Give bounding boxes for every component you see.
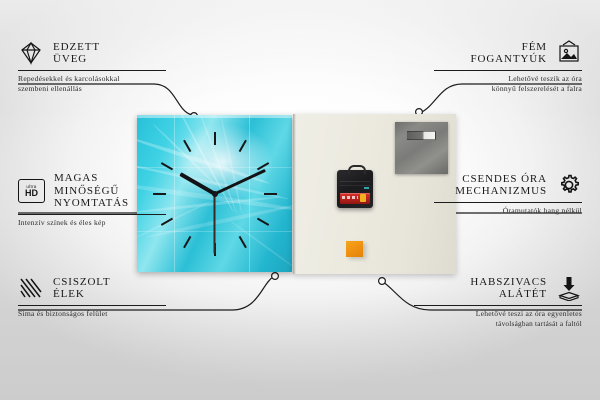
foam-pad-down-arrow-icon <box>556 275 582 301</box>
feature-metal-handles[interactable]: FÉM FOGANTYÚK Lehetővé teszik az óra kön… <box>434 40 582 94</box>
feature-desc-line1: Intenzív színek és éles kép <box>18 218 166 228</box>
feature-title-line2: NYOMTATÁS <box>54 197 166 210</box>
feature-desc-line1: Sima és biztonságos felület <box>18 309 166 319</box>
feature-title-line1: MAGAS MINŐSÉGŰ <box>54 172 166 197</box>
feature-desc-line1: Lehetővé teszik az óra <box>434 74 582 84</box>
aa-battery <box>340 193 370 204</box>
feature-title-line2: ÉLEK <box>53 288 111 301</box>
mechanism-hook <box>348 165 366 174</box>
feature-desc-line2: szembeni ellenállás <box>18 84 166 94</box>
feature-desc-line1: Óramutatók hang nélkül <box>434 206 582 216</box>
feature-foam-pad[interactable]: HABSZIVACS ALÁTÉT Lehetővé teszi az óra … <box>414 275 582 329</box>
feature-silent-mechanism[interactable]: CSENDES ÓRA MECHANIZMUS Óramutatók hang … <box>434 172 582 216</box>
clock-center-cap <box>212 191 218 197</box>
product-photo <box>137 115 457 278</box>
feature-title-line2: ÜVEG <box>53 53 100 66</box>
feature-title-line1: CSISZOLT <box>53 276 111 289</box>
feature-desc-line2: távolságban tartását a faltól <box>414 319 582 329</box>
divider <box>414 305 582 306</box>
feature-desc-line1: Repedésekkel és karcolásokkal <box>18 74 166 84</box>
clock-back-panel <box>293 114 456 274</box>
feature-desc-line1: Lehetővé teszi az óra egyenletes <box>414 309 582 319</box>
feature-tempered-glass[interactable]: EDZETT ÜVEG Repedésekkel és karcolásokka… <box>18 40 166 94</box>
clock-second-hand <box>214 194 216 254</box>
picture-frame-hanger-icon <box>556 40 582 66</box>
infographic-canvas: EDZETT ÜVEG Repedésekkel és karcolásokka… <box>0 0 600 400</box>
feature-title-line2: ALÁTÉT <box>470 288 547 301</box>
feature-title-line2: FOGANTYÚK <box>470 53 547 66</box>
metal-hanger-plate <box>395 122 448 174</box>
diamond-icon <box>18 40 44 66</box>
divider <box>434 202 582 203</box>
feature-high-quality-print[interactable]: ultraHD MAGAS MINŐSÉGŰ NYOMTATÁS Intenzí… <box>18 172 166 228</box>
hanger-slot <box>406 131 436 140</box>
feature-polished-edges[interactable]: CSISZOLT ÉLEK Sima és biztonságos felüle… <box>18 275 166 319</box>
feature-title-line2: MECHANIZMUS <box>455 185 547 198</box>
divider <box>18 214 166 215</box>
divider <box>18 305 166 306</box>
feature-title-line1: FÉM <box>470 41 547 54</box>
ultra-hd-badge-icon: ultraHD <box>18 179 45 203</box>
feature-desc-line2: könnyű felszerelését a falra <box>434 84 582 94</box>
feature-title-line1: HABSZIVACS <box>470 276 547 289</box>
gear-icon <box>556 172 582 198</box>
clock-mechanism-module <box>337 170 373 208</box>
endpoint-dot-foam <box>379 278 386 285</box>
feature-title-line1: CSENDES ÓRA <box>455 173 547 186</box>
feature-title-line1: EDZETT <box>53 41 100 54</box>
foam-spacer-pad <box>346 241 363 257</box>
divider <box>18 70 166 71</box>
polished-edge-icon <box>18 275 44 301</box>
divider <box>434 70 582 71</box>
